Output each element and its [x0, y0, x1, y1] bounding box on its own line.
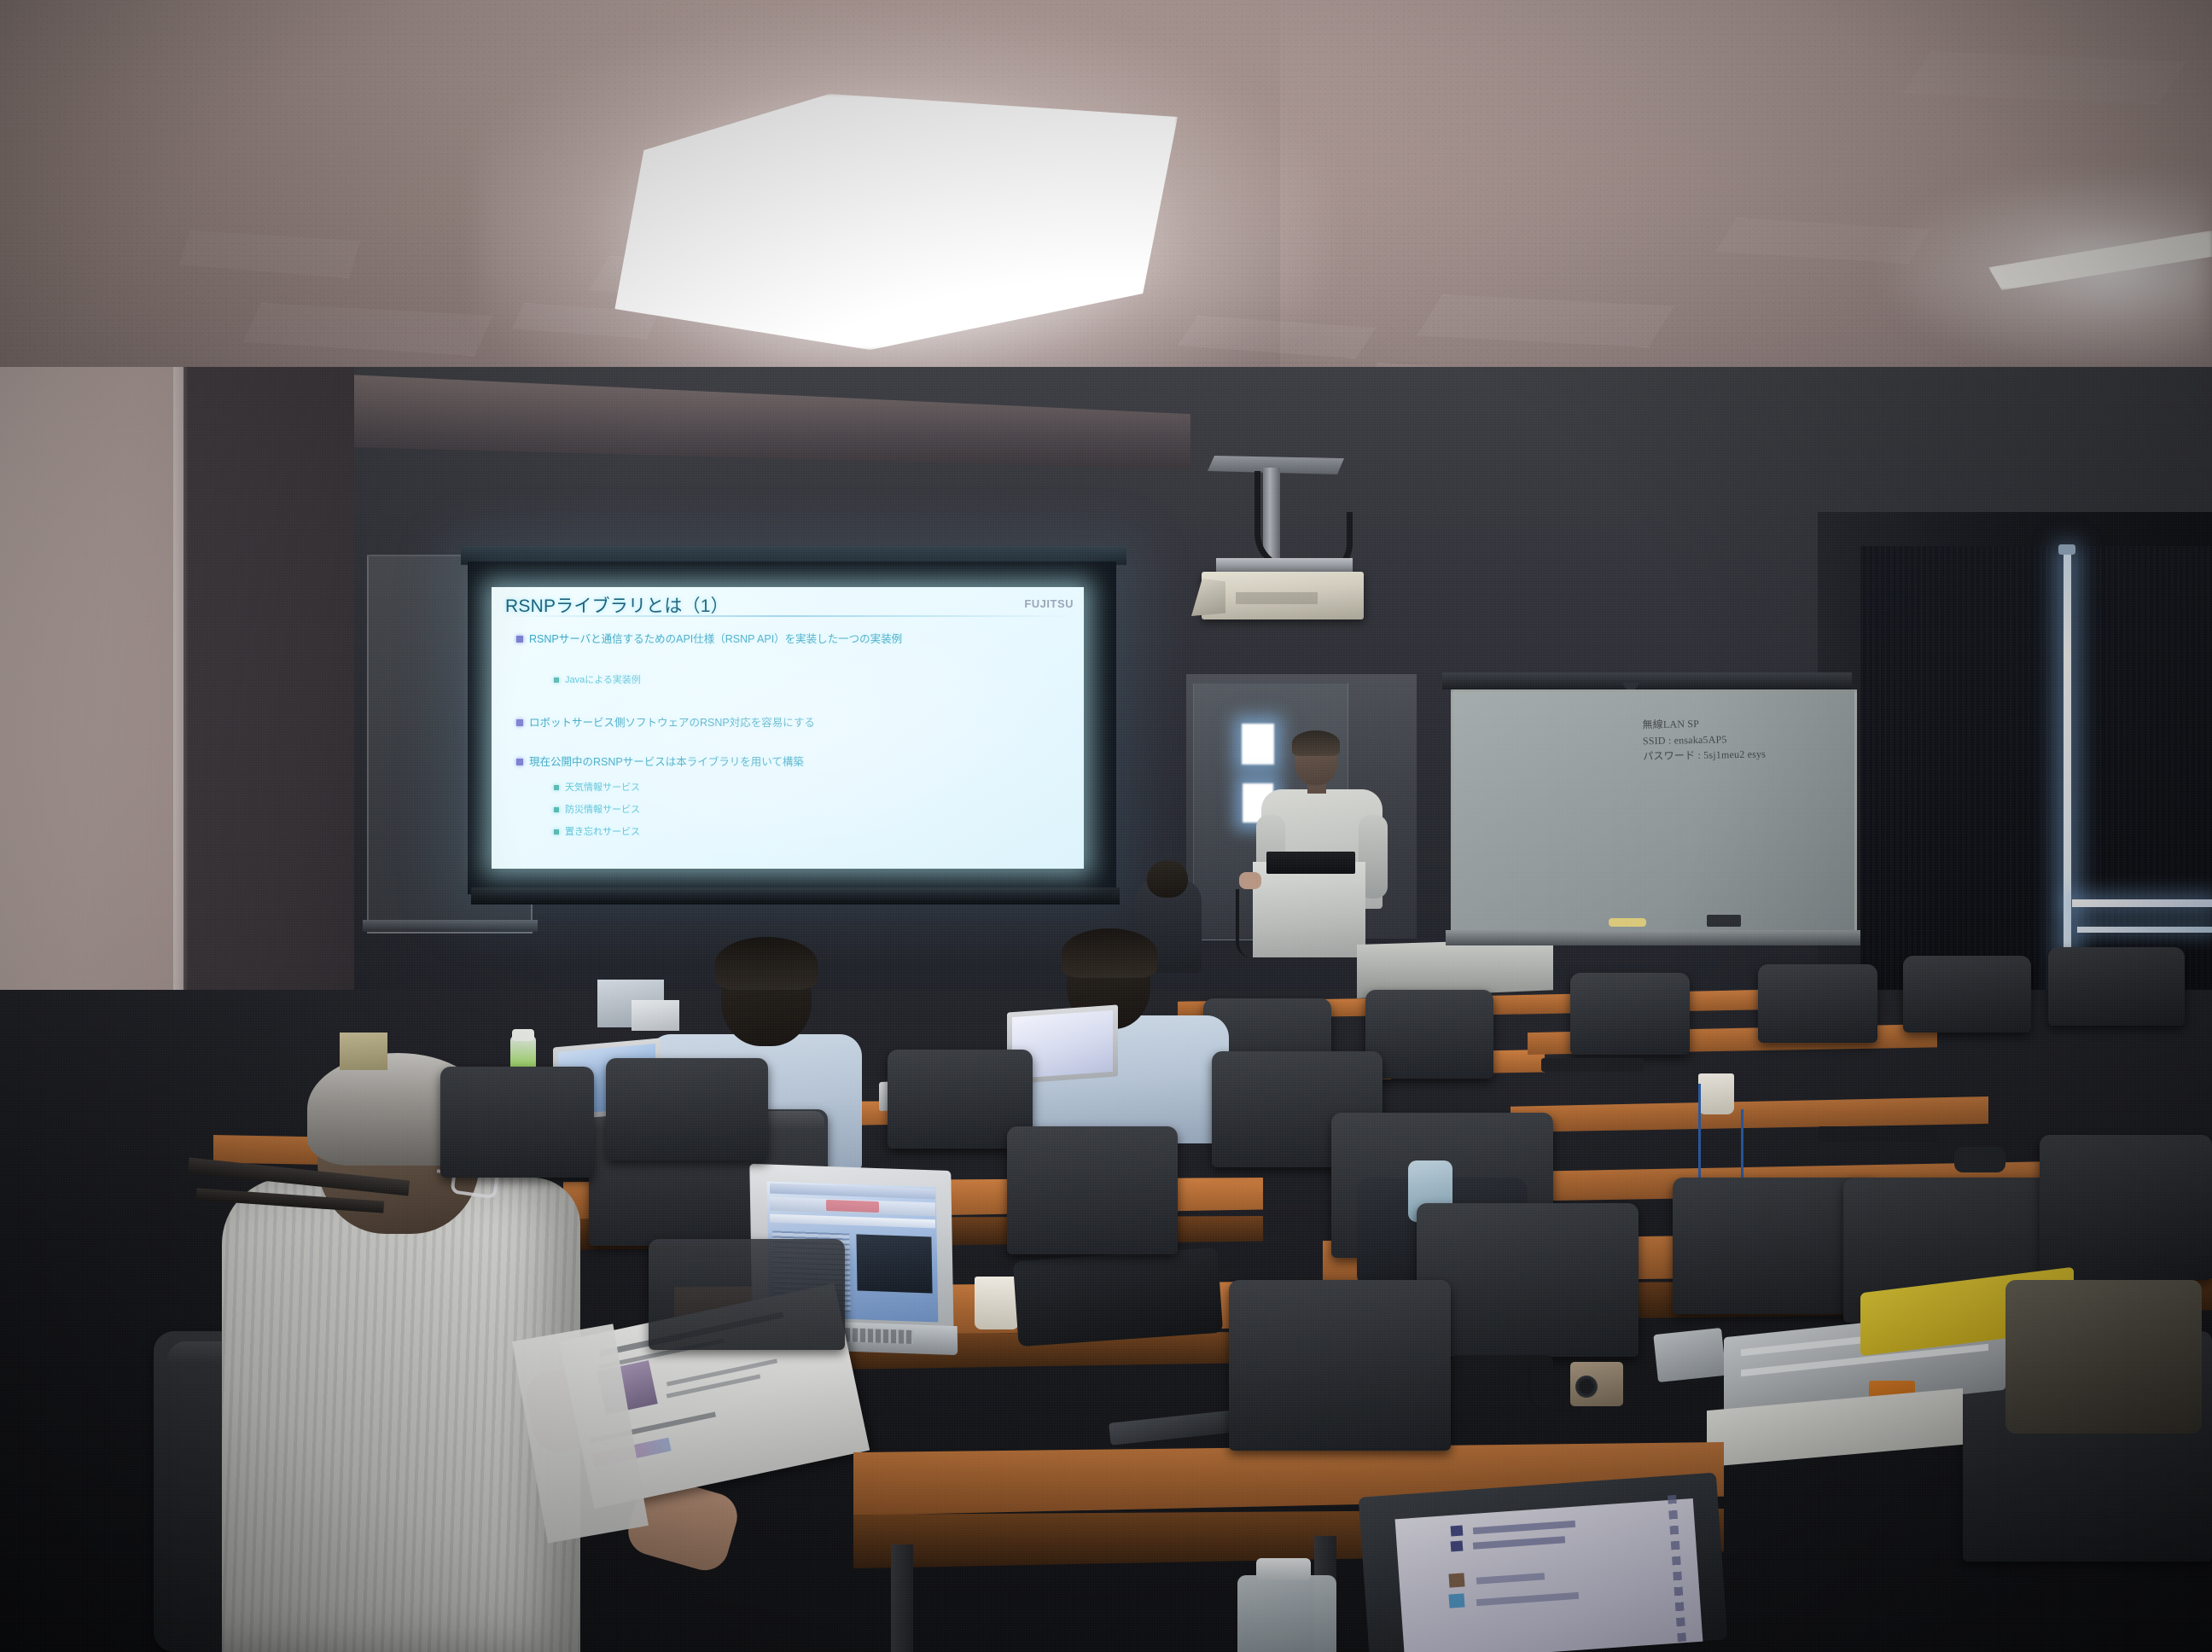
box-on-desk	[340, 1032, 387, 1070]
curtain-rail-fitting	[2058, 544, 2075, 555]
slide-bullet: 現在公開中のRSNPサービスは本ライブラリを用いて構築	[529, 754, 1058, 770]
podium-laptop[interactable]	[1266, 852, 1355, 874]
slide-subbullet: 防災情報サービス	[565, 804, 923, 817]
chair[interactable]	[1570, 973, 1690, 1055]
power-adapter	[1653, 1328, 1726, 1382]
small-device	[632, 1000, 679, 1031]
power-strip	[1541, 1058, 1644, 1072]
door-glass-pane-upper	[1242, 724, 1274, 765]
paper-cup[interactable]	[1698, 1073, 1734, 1114]
chair[interactable]	[649, 1239, 845, 1350]
attendee-hair	[715, 937, 818, 990]
mail-icon	[1448, 1593, 1464, 1608]
podium-cable	[1236, 889, 1261, 957]
slide-bullet: ロボットサービス側ソフトウェアのRSNP対応を容易にする	[529, 715, 1041, 730]
whiteboard-marker-tray	[1446, 930, 1860, 945]
projected-slide: RSNPライブラリとは（1） FUJITSU RSNPサーバと通信するためのAP…	[492, 587, 1084, 869]
slide-title-rule	[502, 615, 1072, 617]
whiteboard-handwriting: 無線LAN SP SSID : ensaka5AP5 パスワード : 5sj1m…	[1642, 713, 1839, 777]
whiteboard-top-rail	[1442, 672, 1852, 689]
lan-cable	[1698, 1084, 1703, 1186]
list-bullet-icon	[1451, 1526, 1464, 1537]
computer-mouse[interactable]	[1954, 1147, 2005, 1172]
chair[interactable]	[1903, 956, 2031, 1032]
list-bullet-icon	[1451, 1541, 1464, 1552]
slide-bullet: RSNPサーバと通信するためのAPI仕様（RSNP API）を実装した一つの実装…	[529, 631, 1041, 647]
whiteboard-eraser[interactable]	[1707, 915, 1741, 927]
daylight-leak-horizontal-lower	[2077, 927, 2212, 933]
yahoo-logo	[826, 1200, 879, 1213]
page-video-thumb	[856, 1234, 932, 1293]
attendee-hair	[1062, 928, 1157, 978]
whiteboard-marker[interactable]	[1609, 918, 1646, 927]
chair[interactable]	[2048, 947, 2185, 1026]
chalkboard-tray	[363, 920, 538, 932]
desk-leg	[891, 1544, 913, 1652]
chair[interactable]	[606, 1058, 768, 1160]
slide-subbullet: 置き忘れサービス	[565, 826, 923, 839]
chair[interactable]	[2040, 1135, 2212, 1280]
slide-title: RSNPライブラリとは（1）	[505, 592, 729, 618]
camera-cable	[1528, 1365, 1581, 1412]
bottle-cap	[1256, 1558, 1311, 1580]
screen-bottom-bar	[471, 887, 1120, 905]
slide-subbullet: Javaによる実装例	[565, 674, 923, 687]
presenter-hair	[1292, 730, 1340, 756]
attendee-head	[1147, 860, 1188, 898]
projector-label	[1236, 592, 1318, 604]
fujitsu-logo: FUJITSU	[1024, 597, 1074, 610]
shoulder-bag	[2005, 1280, 2202, 1434]
chair[interactable]	[440, 1067, 594, 1178]
chair[interactable]	[1229, 1280, 1451, 1451]
water-bottle[interactable]	[1237, 1575, 1336, 1652]
folder-icon	[1448, 1573, 1464, 1587]
bottle-cap	[512, 1029, 534, 1041]
podium	[1253, 862, 1365, 957]
slide-subbullet: 天気情報サービス	[565, 782, 923, 794]
chair[interactable]	[1758, 964, 1877, 1043]
whiteboard-line: パスワード : 5sj1meu2 esys	[1643, 745, 1839, 765]
seminar-room-photo: RSNPライブラリとは（1） FUJITSU RSNPサーバと通信するためのAP…	[0, 0, 2212, 1652]
daylight-leak-horizontal	[2072, 899, 2212, 907]
paper-cup[interactable]	[975, 1277, 1019, 1329]
power-strip	[1818, 1126, 1937, 1142]
presenter-hand	[1239, 872, 1261, 889]
laptop-sleeve	[1013, 1248, 1223, 1347]
chair[interactable]	[1365, 990, 1493, 1079]
chair[interactable]	[1007, 1126, 1178, 1254]
